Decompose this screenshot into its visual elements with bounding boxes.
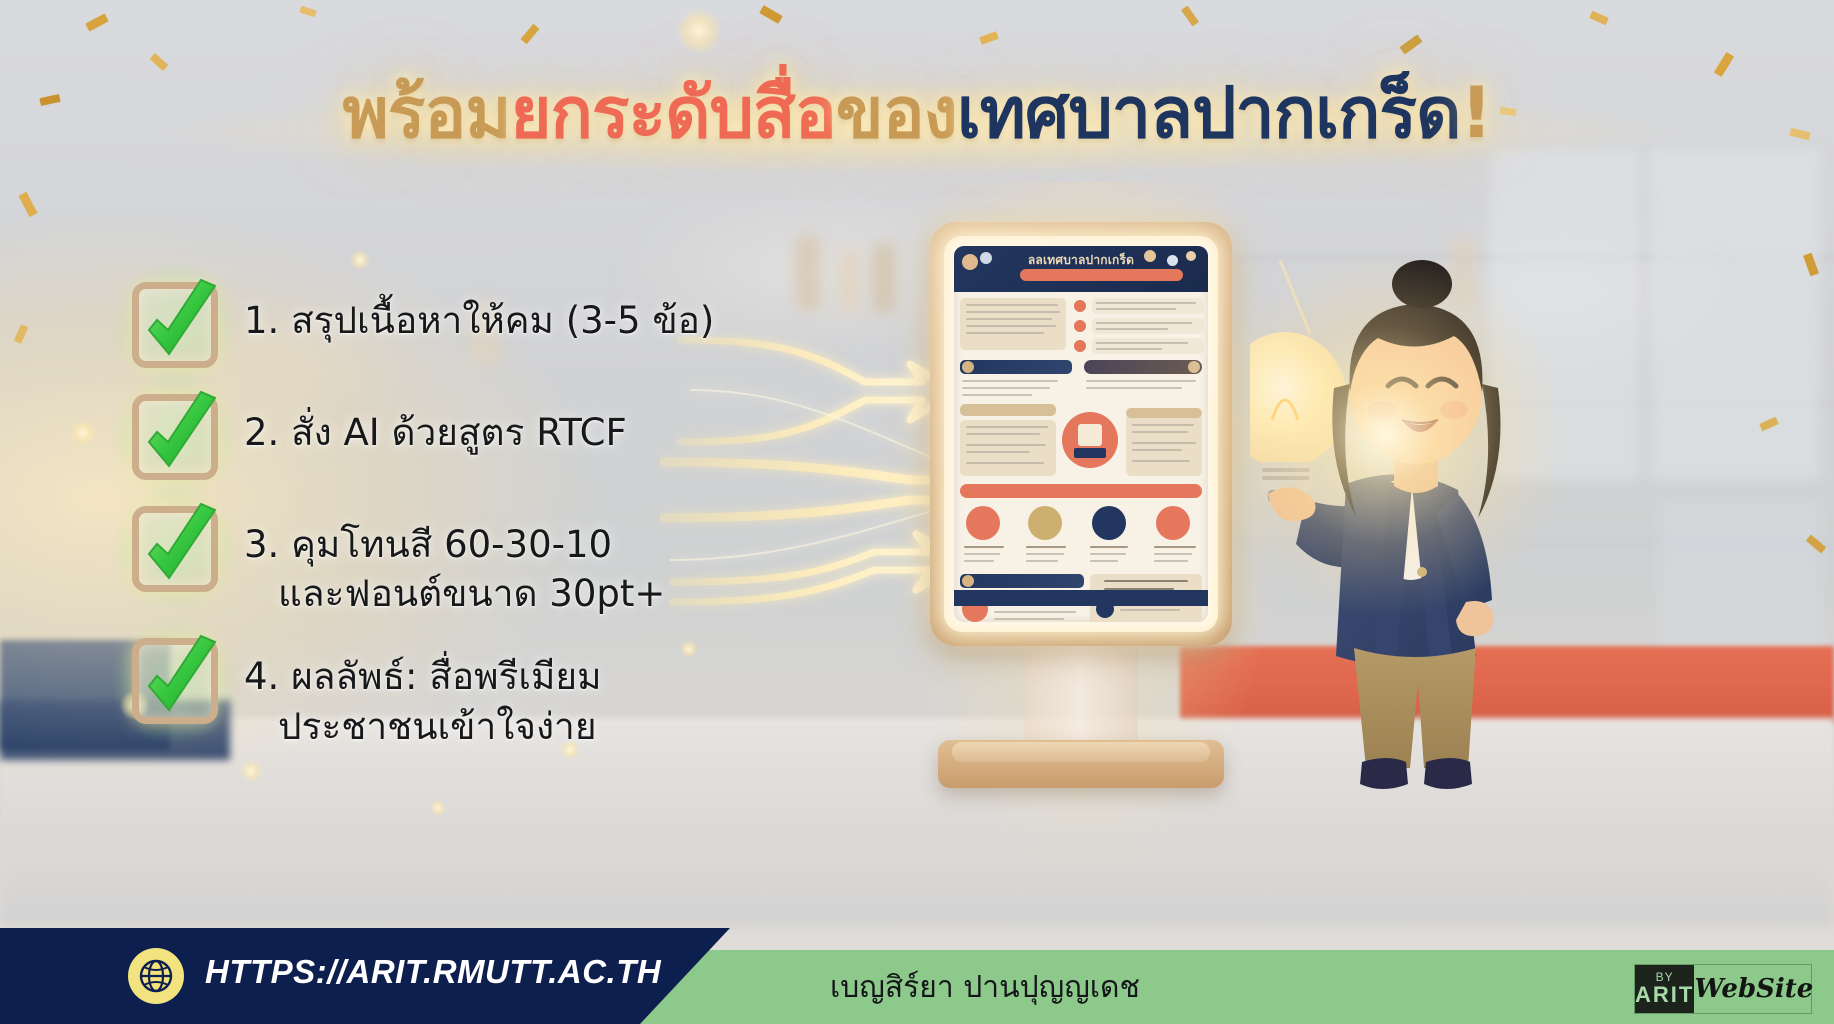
poster-header: ลลเทศบาลปากเกร็ด	[954, 246, 1208, 292]
headline-segment-2: ยกระดับสื่อ	[511, 72, 836, 154]
checklist-item[interactable]: 3. คุมโทนสี 60-30-10 และฟอนต์ขนาด 30pt+	[132, 504, 872, 618]
logo-website-text: WebSite	[1694, 965, 1813, 1013]
checklist: 1. สรุปเนื้อหาให้คม (3-5 ข้อ) 2. สั่ง AI…	[132, 280, 872, 769]
poster-icon-circle	[1028, 506, 1062, 540]
globe-icon	[128, 948, 184, 1004]
checklist-line-1: 3. คุมโทนสี 60-30-10	[244, 523, 612, 566]
poster-body	[954, 292, 1208, 606]
checkbox-1[interactable]	[132, 282, 218, 368]
globe-glyph	[137, 957, 175, 995]
poster-footer	[954, 590, 1208, 606]
checklist-item-text: 1. สรุปเนื้อหาให้คม (3-5 ข้อ)	[244, 280, 714, 345]
poster-diagram-card	[960, 420, 1056, 476]
poster-header-figure	[1186, 251, 1196, 261]
checkbox-2[interactable]	[132, 394, 218, 480]
checklist-line-2: ประชาชนเข้าใจง่าย	[244, 702, 601, 751]
checklist-item-text: 3. คุมโทนสี 60-30-10 และฟอนต์ขนาด 30pt+	[244, 504, 665, 618]
checklist-line-1: 4. ผลลัพธ์: สื่อพรีเมียม	[244, 655, 601, 698]
footer-bar: HTTPS://ARIT.RMUTT.AC.TH เบญสิร์ยา ปานปุ…	[0, 928, 1834, 1024]
logo-arit-text: ARIT	[1635, 983, 1694, 1007]
headline-segment-3: ของ	[836, 72, 957, 154]
check-icon	[123, 492, 235, 604]
poster-diagram-center-icon	[1074, 448, 1106, 458]
poster-icon-circle	[1156, 506, 1190, 540]
poster-bullet-row	[1092, 338, 1204, 354]
poster-bullet-row	[1092, 298, 1204, 314]
digital-signage-kiosk: ลลเทศบาลปากเกร็ด	[930, 222, 1240, 792]
background-bottle	[872, 243, 896, 313]
checklist-item[interactable]: 1. สรุปเนื้อหาให้คม (3-5 ข้อ)	[132, 280, 872, 368]
poster-header-figure	[1167, 255, 1178, 266]
infographic-poster: ลลเทศบาลปากเกร็ด	[954, 246, 1208, 622]
headline-segment-1: พร้อม	[343, 72, 511, 154]
poster-header-figure	[980, 252, 992, 264]
headline-segment-5: !	[1460, 72, 1491, 154]
poster-section-icon	[962, 361, 974, 373]
headline-segment-4: เทศบาลปากเกร็ด	[957, 72, 1461, 154]
poster-bullet-row	[1092, 318, 1204, 334]
poster-icon-circle	[966, 506, 1000, 540]
poster-section-bar	[960, 574, 1084, 588]
checklist-line-1: 1. สรุปเนื้อหาให้คม (3-5 ข้อ)	[244, 299, 714, 342]
checklist-item-text: 4. ผลลัพธ์: สื่อพรีเมียม ประชาชนเข้าใจง่…	[244, 636, 601, 750]
background-window-panel	[1650, 150, 1820, 480]
headline: พร้อมยกระดับสื่อของเทศบาลปากเกร็ด!	[0, 74, 1834, 152]
poster-section-icon	[1188, 361, 1200, 373]
logo-arit-box: BY ARIT	[1635, 965, 1694, 1013]
poster-subtitle-pill	[1020, 269, 1183, 281]
website-url[interactable]: HTTPS://ARIT.RMUTT.AC.TH	[205, 953, 661, 991]
check-icon	[123, 380, 235, 492]
check-icon	[123, 624, 235, 736]
check-icon	[123, 268, 235, 380]
checklist-item-text: 2. สั่ง AI ด้วยสูตร RTCF	[244, 392, 627, 457]
author-name: เบญสิร์ยา ปานปุญญเดช	[830, 964, 1140, 1011]
kiosk-pole	[1024, 646, 1138, 752]
checklist-line-2: และฟอนต์ขนาด 30pt+	[244, 569, 665, 618]
checklist-item[interactable]: 2. สั่ง AI ด้วยสูตร RTCF	[132, 392, 872, 480]
poster-bullet-number	[1074, 320, 1086, 332]
kiosk-base-top	[952, 742, 1210, 762]
character-illustration	[1250, 250, 1580, 820]
character-svg	[1250, 250, 1580, 820]
kiosk-frame: ลลเทศบาลปากเกร็ด	[930, 222, 1232, 646]
poster-section-bar	[960, 360, 1072, 374]
poster-bullet-number	[1074, 300, 1086, 312]
poster-callout-banner	[960, 484, 1202, 498]
checkbox-3[interactable]	[132, 506, 218, 592]
poster-header-figure	[962, 254, 978, 270]
poster-header-figure	[1144, 250, 1156, 262]
poster-diagram-center-icon	[1078, 424, 1102, 446]
poster-section-bar	[1084, 360, 1202, 374]
poster-section-icon	[962, 575, 974, 587]
checkbox-4[interactable]	[132, 638, 218, 724]
poster-canvas: พร้อมยกระดับสื่อของเทศบาลปากเกร็ด!	[0, 0, 1834, 1024]
background-window-panel	[1660, 500, 1820, 660]
arit-website-logo[interactable]: BY ARIT WebSite	[1634, 964, 1812, 1014]
poster-bullet-number	[1074, 340, 1086, 352]
checklist-item[interactable]: 4. ผลลัพธ์: สื่อพรีเมียม ประชาชนเข้าใจง่…	[132, 636, 872, 750]
background-floor	[0, 856, 1834, 926]
poster-diagram-label	[960, 404, 1056, 416]
headline-text: พร้อมยกระดับสื่อของเทศบาลปากเกร็ด!	[343, 74, 1492, 152]
poster-icon-circle	[1092, 506, 1126, 540]
poster-diagram-label	[1126, 408, 1202, 418]
checklist-line-1: 2. สั่ง AI ด้วยสูตร RTCF	[244, 411, 627, 454]
